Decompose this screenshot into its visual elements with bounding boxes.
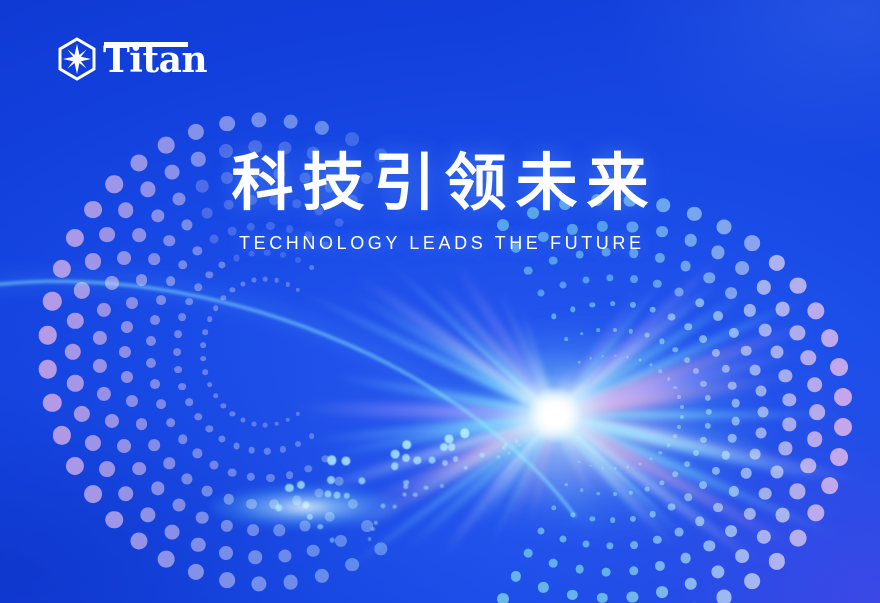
hexagon-starburst-icon [57, 37, 97, 81]
logo-overline-bar [104, 42, 188, 47]
cyan-sweep-hotspot [210, 486, 400, 528]
page-title: 科技引领未来 [0, 152, 880, 214]
brand-name: Titan [103, 42, 207, 78]
page-subtitle: TECHNOLOGY LEADS THE FUTURE [0, 234, 880, 252]
banner-canvas: Titan 科技引领未来 TECHNOLOGY LEADS THE FUTURE [0, 0, 880, 603]
